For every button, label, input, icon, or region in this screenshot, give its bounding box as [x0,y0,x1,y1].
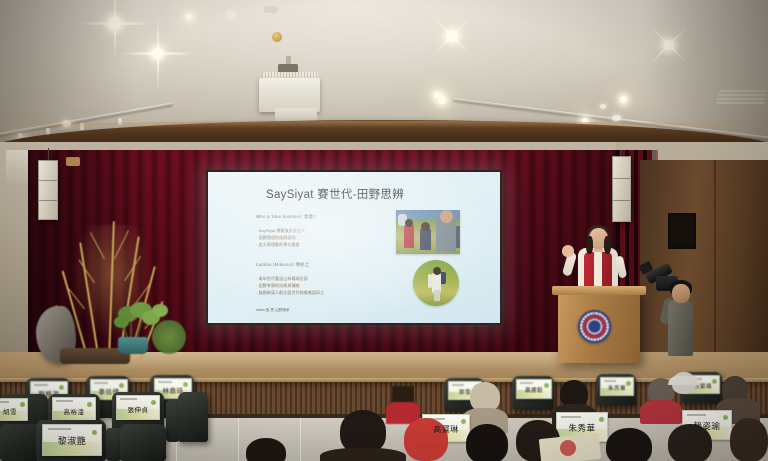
bonsai-pot [118,337,148,354]
slide-photo-group [396,210,460,254]
audience-head-foreground [730,418,768,461]
speaker-hair-right [604,236,611,254]
speaker-hand [562,245,574,257]
slide-section-1-heading: Who a 'blue business' 意義? [256,214,316,220]
slide-photo-portrait [413,260,459,306]
wall-speaker-right [612,156,631,222]
placard-name: 張伸貞 [117,404,159,414]
name-placard: 朱芳華 [600,377,634,396]
placard-name: 朱秀華 [557,422,607,434]
stage-light-fixture [66,157,80,166]
wall-panel-seam [714,160,716,360]
slide-section-2-bullet-3: · 族群新見人群文面世代的情感認同之 [256,290,324,296]
audience-head-foreground [246,438,286,461]
projection-screen: SaySiyat 賽世代-田野思辨 Who a 'blue business' … [208,172,500,323]
chair[interactable] [0,424,40,461]
wall-dark-panel [668,213,696,249]
floor-tile-line [300,418,301,461]
podium-emblem-rays [578,310,611,343]
placard-name: 高寶琳 [423,424,469,435]
audience-shoulders [320,448,406,461]
chair[interactable] [120,424,166,461]
slide-footer: mlam 族 思 山野傳承 [256,308,289,313]
right-wood-paneling [640,160,768,370]
audience-shoulders [640,400,682,424]
audience-head-foreground [606,428,652,461]
audience-head-foreground [466,424,508,461]
photographer-head [672,284,690,303]
name-placard: 高裕淦 [52,397,96,422]
placard-name: 朱芳華 [601,384,633,392]
potted-shrub [152,320,186,354]
slide-section-1-bullet-3: · 由大眾理解的學社重要 [256,242,300,248]
name-placard: 張伸貞 [116,395,160,420]
name-placard: 胡雪 [0,398,28,421]
beam-highlight [0,121,768,128]
wall-speaker-left [38,160,58,220]
baseball-cap-icon [668,376,700,385]
slide-section-2-bullet-2: · 田野考察的技術與傳統 [256,283,300,289]
placard-name: 聶建毅 [517,386,551,394]
stage-floor-sheen [120,352,590,370]
auditorium-scene: SaySiyat 賽世代-田野思辨 Who a 'blue business' … [0,0,768,461]
photographer-body [668,300,693,356]
slide-section-1-bullet-2: · 田野過程的族群認同 [256,235,296,241]
placard-name: 賴姿瑜 [683,420,731,432]
speaker-hair-left [586,236,593,254]
podium-top-surface [552,286,646,295]
slide-title: SaySiyat 賽世代-田野思辨 [266,186,404,202]
placard-name: 高裕淦 [53,406,95,416]
slide-section-1-bullet-1: · SaySiyat 賽夏族文化之人 [256,228,305,234]
floor-tile-line [238,418,239,461]
placard-name: 胡雪 [0,406,27,416]
chair[interactable] [178,392,208,442]
slide-section-2-heading: Lumluu (Mikesun) 傳統之 [256,262,309,268]
name-placard: 聶建毅 [516,379,552,399]
name-placard: 黎淑艷 [42,424,102,456]
placard-name: 黎淑艷 [43,434,101,447]
slide-section-2-bullet-1: · 青年世代重返山林場域記錄 [256,276,308,282]
handout-stamp [560,440,576,456]
